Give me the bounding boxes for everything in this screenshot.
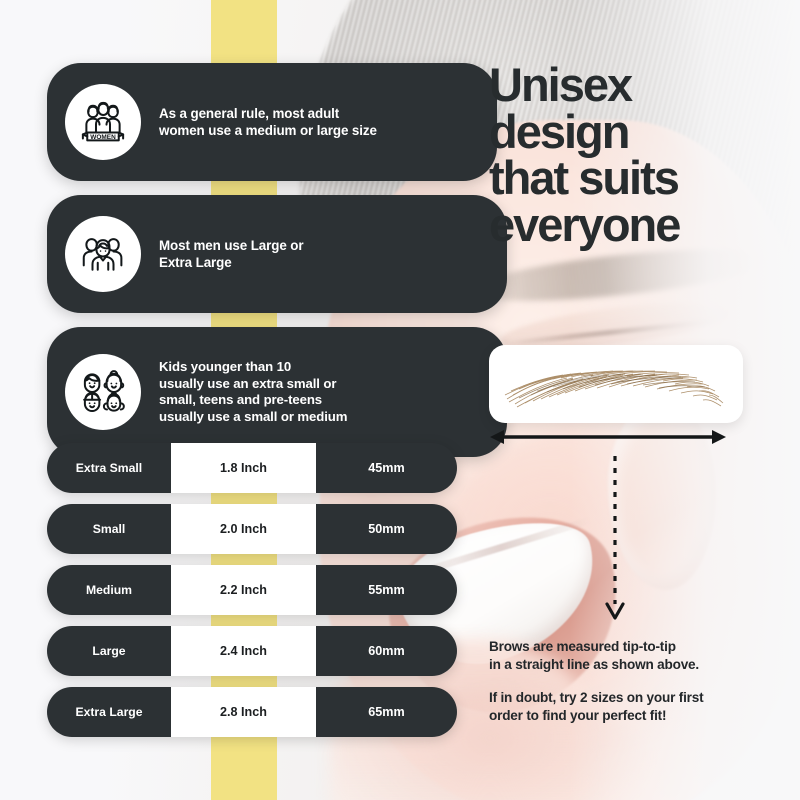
measurement-notes: Brows are measured tip-to-tip in a strai…	[489, 638, 774, 725]
info-card-men-text: Most men use Large or Extra Large	[159, 237, 304, 271]
size-name-cell: Large	[47, 626, 171, 676]
size-mm-cell: 45mm	[316, 443, 457, 493]
note-spacer	[489, 673, 774, 689]
info-line: Kids younger than 10	[159, 359, 347, 376]
svg-text:WOMEN: WOMEN	[90, 134, 116, 141]
info-line: small, teens and pre-teens	[159, 392, 347, 409]
size-name-cell: Extra Small	[47, 443, 171, 493]
table-row: Large 2.4 Inch 60mm	[47, 626, 457, 676]
table-row: Extra Large 2.8 Inch 65mm	[47, 687, 457, 737]
note-line: in a straight line as shown above.	[489, 656, 774, 674]
info-line: women use a medium or large size	[159, 122, 377, 139]
headline-line-1: Unisex	[489, 62, 789, 109]
page-title: Unisex design that suits everyone	[489, 62, 789, 248]
table-row: Small 2.0 Inch 50mm	[47, 504, 457, 554]
size-inch-cell: 2.2 Inch	[171, 565, 316, 615]
size-inch-cell: 2.8 Inch	[171, 687, 316, 737]
table-row: Medium 2.2 Inch 55mm	[47, 565, 457, 615]
infographic-canvas: WOMEN As a general rule, most adult wome…	[0, 0, 800, 800]
size-inch-cell: 1.8 Inch	[171, 443, 316, 493]
info-line: usually use an extra small or	[159, 376, 347, 393]
eyebrow-hair-piece-image	[489, 345, 743, 423]
info-line: usually use a small or medium	[159, 409, 347, 426]
three-men-group-icon	[65, 216, 141, 292]
info-card-women-text: As a general rule, most adult women use …	[159, 105, 377, 139]
info-line: Extra Large	[159, 254, 304, 271]
dotted-down-arrow	[604, 456, 626, 622]
eyebrow-product-card	[489, 345, 743, 423]
headline-line-3: that suits	[489, 155, 789, 202]
size-name-cell: Small	[47, 504, 171, 554]
note-line: order to find your perfect fit!	[489, 707, 774, 725]
headline-line-2: design	[489, 109, 789, 156]
info-card-men: Most men use Large or Extra Large	[47, 195, 507, 313]
three-women-group-icon: WOMEN	[65, 84, 141, 160]
four-kids-faces-icon	[65, 354, 141, 430]
headline-line-4: everyone	[489, 202, 789, 249]
info-line: Most men use Large or	[159, 237, 304, 254]
size-inch-cell: 2.4 Inch	[171, 626, 316, 676]
size-name-cell: Extra Large	[47, 687, 171, 737]
double-headed-measure-arrow	[489, 428, 727, 446]
size-name-cell: Medium	[47, 565, 171, 615]
info-card-list: WOMEN As a general rule, most adult wome…	[47, 63, 469, 471]
info-card-women: WOMEN As a general rule, most adult wome…	[47, 63, 497, 181]
size-mm-cell: 50mm	[316, 504, 457, 554]
note-line: If in doubt, try 2 sizes on your first	[489, 689, 774, 707]
size-inch-cell: 2.0 Inch	[171, 504, 316, 554]
size-mm-cell: 65mm	[316, 687, 457, 737]
size-chart-table: Extra Small 1.8 Inch 45mm Small 2.0 Inch…	[47, 443, 457, 748]
note-line: Brows are measured tip-to-tip	[489, 638, 774, 656]
table-row: Extra Small 1.8 Inch 45mm	[47, 443, 457, 493]
info-line: As a general rule, most adult	[159, 105, 377, 122]
info-card-kids-text: Kids younger than 10 usually use an extr…	[159, 359, 347, 425]
info-card-kids: Kids younger than 10 usually use an extr…	[47, 327, 507, 457]
size-mm-cell: 55mm	[316, 565, 457, 615]
size-mm-cell: 60mm	[316, 626, 457, 676]
